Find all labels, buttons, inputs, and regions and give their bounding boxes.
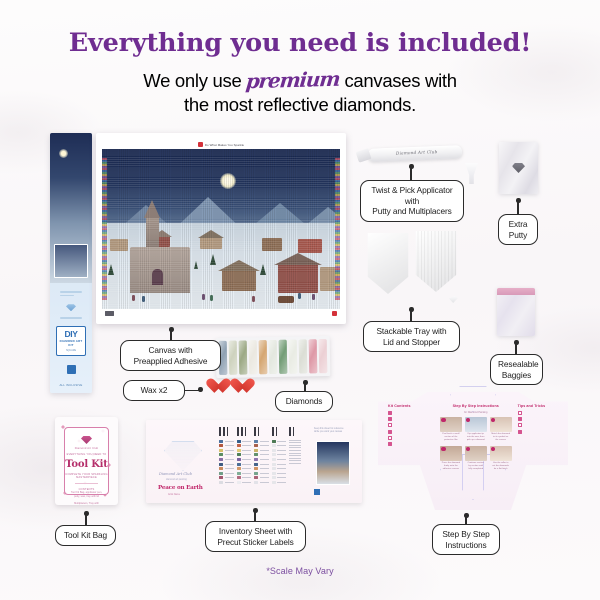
page-subtitle: We only use premium canvases with the mo… bbox=[0, 67, 600, 118]
step-item: Press the diamond firmly onto the adhesi… bbox=[440, 446, 462, 472]
church-steeple bbox=[146, 217, 159, 249]
diy-badge-subtitle: DIAMOND ART KIT bbox=[58, 339, 84, 347]
subtitle-part-2: canvases with bbox=[344, 70, 456, 91]
inventory-design-thumbnail bbox=[316, 441, 350, 485]
wax-heart-2 bbox=[230, 379, 247, 395]
tray-stopper bbox=[449, 296, 458, 303]
diamond-watermark-icon bbox=[164, 441, 202, 471]
callout-wax: Wax x2 bbox=[123, 380, 185, 401]
callout-canvas: Canvas with Preapplied Adhesive bbox=[120, 340, 221, 371]
tip-icon bbox=[518, 411, 522, 415]
inventory-color-columns bbox=[219, 425, 305, 498]
diamond-icon bbox=[66, 304, 76, 311]
inventory-brand: Diamond Art Club bbox=[159, 472, 192, 476]
inventory-right-note: Keep this sheet for reference while you … bbox=[310, 428, 356, 435]
tips-heading: Tips and Tricks bbox=[518, 404, 558, 408]
moon-icon bbox=[59, 149, 68, 158]
step-caption: Match the diamond to its symbol on the c… bbox=[490, 433, 512, 443]
subtitle-script-word: premium bbox=[245, 66, 341, 95]
pen-brand-script: Diamond Art Club bbox=[396, 149, 438, 156]
resealable-baggie-pack bbox=[497, 288, 535, 336]
page-title: Everything you need is included! bbox=[0, 28, 600, 58]
inventory-sheet: Diamond Art Club diamond art painting Pe… bbox=[146, 420, 362, 503]
extra-putty-packet bbox=[499, 142, 538, 194]
step-item: Dip applicator tip into the wax, then pi… bbox=[465, 417, 487, 443]
brand-logo-icon bbox=[332, 311, 337, 316]
tips-column: Tips and Tricks bbox=[518, 404, 558, 472]
diy-box-lower: DIY DIAMOND ART KIT SQUARE ALL INCLUSIVE bbox=[50, 283, 92, 387]
scale-disclaimer: *Scale May Vary bbox=[0, 566, 600, 576]
product-canvas: Do What Makes You Sparkle bbox=[96, 133, 346, 324]
stackable-tray-lid bbox=[366, 233, 410, 294]
brand-square-icon bbox=[314, 489, 320, 495]
tool-kit-tagline: COMPLETE YOUR SPARKLING MASTERPIECE bbox=[65, 473, 108, 479]
diy-badge-title: DIY bbox=[58, 330, 84, 339]
tool-kit-contents: Tool Kit Bag, applicator pen, putty, wax… bbox=[65, 491, 108, 505]
tool-kit-bag: Diamond Art Club EVERYTHING YOU NEED TO … bbox=[55, 417, 118, 505]
step-item: Use the roller to set the diamonds for a… bbox=[490, 446, 512, 472]
tip-icon bbox=[518, 423, 522, 427]
applicator-pen: Diamond Art Club bbox=[368, 145, 462, 162]
callout-extra-putty: Extra Putty bbox=[498, 214, 538, 245]
step-image bbox=[465, 446, 487, 461]
diy-box-inset-image bbox=[54, 244, 88, 278]
kit-contents-column: Kit Contents bbox=[388, 404, 434, 472]
brand-square-icon bbox=[67, 365, 76, 374]
step-caption: Dip applicator tip into the wax, then pi… bbox=[465, 433, 487, 443]
baggie-seal-strip bbox=[497, 288, 535, 295]
inventory-artist: Artist Name bbox=[168, 494, 180, 496]
canvas-color-key-left bbox=[102, 158, 107, 300]
brand-logo-icon bbox=[198, 142, 203, 147]
diy-badge: DIY DIAMOND ART KIT SQUARE bbox=[56, 326, 86, 356]
step-number-badge bbox=[491, 447, 496, 452]
inventory-design-title: Peace on Earth bbox=[158, 485, 203, 491]
callout-tool-kit: Tool Kit Bag bbox=[55, 525, 116, 546]
step-caption: Continue section by section until fully … bbox=[465, 462, 487, 472]
step-item: Peel back a small section of the protect… bbox=[440, 417, 462, 443]
steps-subheading: for Diamond Painting bbox=[440, 411, 512, 414]
callout-inventory: Inventory Sheet with Precut Sticker Labe… bbox=[205, 521, 306, 552]
bullet-icon bbox=[388, 436, 392, 440]
barcode-icon bbox=[105, 311, 114, 316]
step-caption: Peel back a small section of the protect… bbox=[440, 433, 462, 443]
subtitle-line-2: the most reflective diamonds. bbox=[184, 94, 416, 115]
callout-diamonds: Diamonds bbox=[275, 391, 333, 412]
diy-box-artwork bbox=[50, 133, 92, 283]
step-number-badge bbox=[466, 447, 471, 452]
step-caption: Use the roller to set the diamonds for a… bbox=[490, 462, 512, 472]
bullet-icon bbox=[388, 423, 392, 427]
step-number-badge bbox=[491, 418, 496, 423]
step-image bbox=[440, 417, 462, 432]
canvas-color-key-right bbox=[335, 158, 340, 300]
inventory-brand-sub: diamond art painting bbox=[166, 479, 187, 481]
tool-kit-eyebrow: EVERYTHING YOU NEED TO bbox=[65, 453, 108, 456]
subtitle-part-1: We only use bbox=[143, 70, 241, 91]
callout-tray: Stackable Tray with Lid and Stopper bbox=[363, 321, 460, 352]
step-image bbox=[465, 417, 487, 432]
inventory-reference-panel: Keep this sheet for reference while you … bbox=[310, 425, 356, 498]
step-number-badge bbox=[441, 418, 446, 423]
tip-icon bbox=[518, 417, 522, 421]
bullet-icon bbox=[388, 442, 392, 446]
leader-dot bbox=[198, 387, 203, 392]
leader-line bbox=[410, 167, 412, 181]
step-caption: Press the diamond firmly onto the adhesi… bbox=[440, 462, 462, 472]
callout-instructions: Step By Step Instructions bbox=[432, 524, 500, 555]
diamond-icon bbox=[81, 436, 92, 444]
callout-baggies: Resealable Baggies bbox=[490, 354, 543, 385]
bullet-icon bbox=[388, 430, 392, 434]
steps-heading: Step By Step Instructions bbox=[440, 404, 512, 408]
step-item: Continue section by section until fully … bbox=[465, 446, 487, 472]
multiplacer-tool bbox=[462, 163, 481, 184]
diy-box-footer: ALL INCLUSIVE bbox=[54, 383, 88, 387]
diamond-bags-strip bbox=[216, 336, 331, 378]
canvas-tagline-text: Do What Makes You Sparkle bbox=[205, 143, 244, 147]
moon-icon bbox=[220, 173, 236, 189]
step-image bbox=[490, 417, 512, 432]
tip-icon bbox=[518, 430, 522, 434]
canvas-top-tagline: Do What Makes You Sparkle bbox=[102, 140, 340, 149]
tool-kit-brand: Diamond Art Club bbox=[65, 447, 108, 450]
tool-kit-label: Diamond Art Club EVERYTHING YOU NEED TO … bbox=[64, 427, 109, 495]
header: Everything you need is included! We only… bbox=[0, 0, 600, 118]
step-number-badge bbox=[441, 447, 446, 452]
step-by-step-instruction-sheet: Kit Contents Step By Step Instructions f… bbox=[378, 392, 568, 510]
bullet-icon bbox=[388, 411, 392, 415]
steps-column: Step By Step Instructions for Diamond Pa… bbox=[440, 404, 512, 472]
wax-heart-1 bbox=[206, 379, 223, 395]
leader-line bbox=[517, 201, 519, 215]
canvas-bottom-bar bbox=[102, 309, 340, 318]
diamond-icon bbox=[512, 163, 525, 173]
diy-badge-shape: SQUARE bbox=[58, 349, 84, 352]
callout-applicator: Twist & Pick Applicator with Putty and M… bbox=[360, 180, 464, 222]
stackable-tray-grooved bbox=[414, 231, 458, 292]
diy-packaging-box: DIY DIAMOND ART KIT SQUARE ALL INCLUSIVE bbox=[50, 133, 92, 393]
bullet-icon bbox=[388, 417, 392, 421]
kit-contents-heading: Kit Contents bbox=[388, 404, 434, 408]
step-number-badge bbox=[466, 418, 471, 423]
tool-kit-title: Tool Kit bbox=[65, 459, 108, 470]
step-item: Match the diamond to its symbol on the c… bbox=[490, 417, 512, 443]
pen-tip bbox=[356, 148, 372, 163]
step-image bbox=[490, 446, 512, 461]
step-image bbox=[440, 446, 462, 461]
canvas-artwork bbox=[102, 149, 340, 309]
inventory-cover: Diamond Art Club diamond art painting Pe… bbox=[152, 425, 214, 498]
